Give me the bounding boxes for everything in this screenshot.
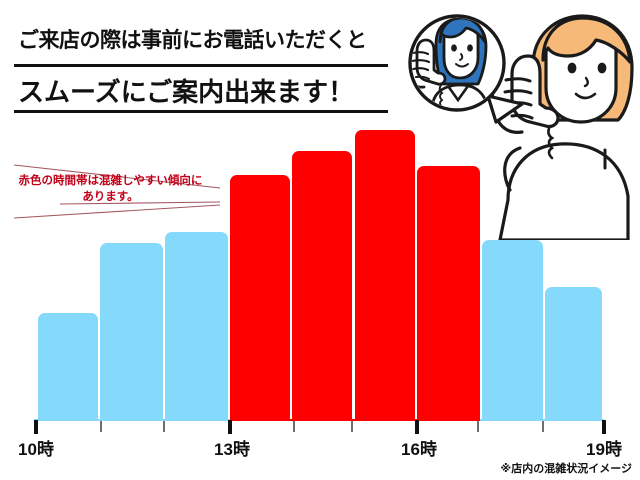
axis-label-10: 10時 xyxy=(18,435,54,460)
tick-minor-15 xyxy=(351,421,353,432)
staff-eye-right xyxy=(467,44,473,51)
bar-17 xyxy=(482,240,543,420)
tick-minor-14 xyxy=(293,421,295,432)
staff-person xyxy=(405,18,488,118)
tick-major-13 xyxy=(228,420,232,434)
caller-eye-right xyxy=(598,63,607,74)
axis-label-13: 13時 xyxy=(214,435,250,460)
speech-bubble xyxy=(405,16,522,122)
bar-11 xyxy=(100,243,163,420)
tick-major-10 xyxy=(34,420,38,434)
bar-12 xyxy=(165,232,228,420)
bar-18 xyxy=(545,287,602,420)
caller-eye-left xyxy=(568,63,577,74)
staff-eye-left xyxy=(451,44,457,51)
tick-major-19 xyxy=(602,420,606,434)
axis-segment-busy xyxy=(230,419,480,421)
poster-canvas: ご来店の際は事前にお電話いただくと スムーズにご案内出来ます！ 赤色の時間帯は混… xyxy=(0,0,640,480)
tick-major-16 xyxy=(415,420,419,434)
bar-13 xyxy=(230,175,290,420)
bar-10 xyxy=(38,313,98,420)
axis-segment-normal-morning xyxy=(34,419,230,421)
axis-label-19: 19時 xyxy=(586,435,622,460)
bar-14 xyxy=(292,151,352,420)
chart-footnote: ※店内の混雑状況イメージ xyxy=(501,460,632,476)
caller-woman xyxy=(493,16,632,240)
axis-label-16: 16時 xyxy=(401,435,437,460)
tick-minor-11 xyxy=(100,421,102,432)
tick-minor-18 xyxy=(542,421,544,432)
tick-minor-17 xyxy=(477,421,479,432)
tick-minor-12 xyxy=(163,421,165,432)
phone-call-illustration xyxy=(400,0,640,240)
illustration-svg xyxy=(400,0,640,240)
